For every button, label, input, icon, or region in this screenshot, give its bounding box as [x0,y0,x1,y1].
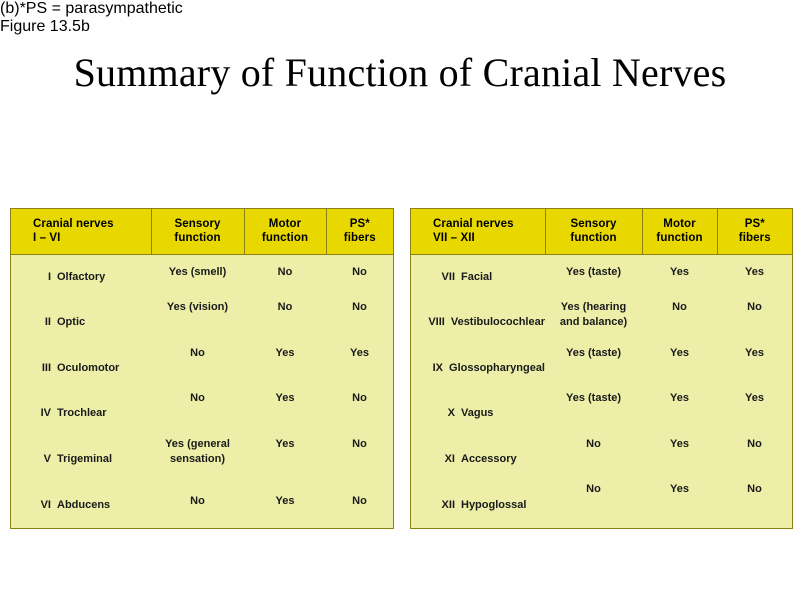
column-header-cranial-nerves: Cranial nerves VII – XII [411,209,545,254]
table-row: II Optic Yes (vision) No No [11,300,393,346]
cell-motor: Yes [642,437,717,483]
header-line-1: Motor [269,218,301,230]
nerve-numeral: VII [411,270,455,285]
header-row: Cranial nerves VII – XII Sensory functio… [411,209,792,254]
table-row: XI Accessory No Yes No [411,437,792,483]
cell-ps: No [326,482,393,528]
table-row: VIII Vestibulocochlear Yes (hearing and … [411,300,792,346]
header-line-1: PS* [350,218,370,230]
cell-motor: Yes [244,391,326,437]
column-header-ps-fibers: PS* fibers [717,209,792,254]
nerve-numeral: VIII [411,315,445,330]
header-line-2: function [570,232,616,244]
cell-sensory: No [151,482,244,528]
cell-nerve: V Trigeminal [11,437,151,483]
header-line-2: fibers [344,232,376,244]
cell-motor: No [642,300,717,346]
table-body: VII Facial Yes (taste) Yes Yes VIII Vest… [411,254,792,528]
nerve-name: Vagus [455,406,493,421]
cell-ps: Yes [717,391,792,437]
nerve-numeral: II [11,315,51,330]
nerve-numeral: XI [411,452,455,467]
nerve-numeral: V [11,452,51,467]
table-row: XII Hypoglossal No Yes No [411,482,792,528]
page-title: Summary of Function of Cranial Nerves [40,48,760,98]
figure-number: Figure 13.5b [0,18,800,36]
table: Cranial nerves I – VI Sensory function M… [11,209,393,528]
column-header-cranial-nerves: Cranial nerves I – VI [11,209,151,254]
cell-ps: No [326,254,393,300]
cranial-nerves-table-7-12: Cranial nerves VII – XII Sensory functio… [410,208,793,529]
cell-ps: Yes [717,346,792,392]
nerve-name: Oculomotor [51,361,119,376]
header-line-1: Motor [663,218,695,230]
header-line-1: Cranial nerves [433,218,514,230]
header-line-1: Sensory [174,218,220,230]
header-line-2: I – VI [33,232,60,244]
cell-sensory: Yes (hearing and balance) [545,300,642,346]
cell-ps: No [326,300,393,346]
cell-ps: No [717,300,792,346]
cell-ps: No [717,482,792,528]
nerve-numeral: X [411,406,455,421]
header-line-1: Sensory [570,218,616,230]
nerve-name: Olfactory [51,270,105,285]
cell-nerve: X Vagus [411,391,545,437]
header-line-2: fibers [739,232,771,244]
cell-ps: No [326,437,393,483]
cell-motor: No [244,254,326,300]
table-row: IX Glossopharyngeal Yes (taste) Yes Yes [411,346,792,392]
ps-footnote: *PS = parasympathetic [20,0,183,17]
cell-sensory: Yes (taste) [545,254,642,300]
header-line-2: function [174,232,220,244]
cell-sensory: No [151,391,244,437]
cell-sensory: Yes (general sensation) [151,437,244,483]
cell-nerve: VIII Vestibulocochlear [411,300,545,346]
header-line-1: Cranial nerves [33,218,114,230]
nerve-numeral: IX [411,361,443,376]
cell-motor: Yes [642,254,717,300]
cell-sensory: No [545,482,642,528]
nerve-name: Abducens [51,498,110,513]
cell-nerve: IX Glossopharyngeal [411,346,545,392]
cell-ps: Yes [717,254,792,300]
cell-sensory: Yes (vision) [151,300,244,346]
cell-nerve: I Olfactory [11,254,151,300]
table-row: VII Facial Yes (taste) Yes Yes [411,254,792,300]
header-line-2: VII – XII [433,232,475,244]
table-header: Cranial nerves VII – XII Sensory functio… [411,209,792,254]
column-header-sensory-function: Sensory function [151,209,244,254]
cell-ps: No [717,437,792,483]
header-row: Cranial nerves I – VI Sensory function M… [11,209,393,254]
header-line-2: function [656,232,702,244]
cell-sensory: Yes (taste) [545,391,642,437]
cell-ps: No [326,391,393,437]
table-header: Cranial nerves I – VI Sensory function M… [11,209,393,254]
column-header-sensory-function: Sensory function [545,209,642,254]
nerve-name: Optic [51,315,85,330]
cell-nerve: IV Trochlear [11,391,151,437]
cell-nerve: VII Facial [411,254,545,300]
figure-13-5b: Cranial nerves I – VI Sensory function M… [0,208,800,438]
cell-sensory: No [545,437,642,483]
nerve-numeral: XII [411,498,455,513]
cell-nerve: XI Accessory [411,437,545,483]
cell-motor: Yes [642,391,717,437]
cell-motor: No [244,300,326,346]
column-header-ps-fibers: PS* fibers [326,209,393,254]
cell-motor: Yes [642,482,717,528]
header-line-2: function [262,232,308,244]
cell-sensory: No [151,346,244,392]
nerve-name: Facial [455,270,492,285]
cell-motor: Yes [642,346,717,392]
table-row: VI Abducens No Yes No [11,482,393,528]
figure-caption: (b)*PS = parasympathetic [0,0,800,18]
nerve-numeral: VI [11,498,51,513]
cell-nerve: II Optic [11,300,151,346]
cell-motor: Yes [244,437,326,483]
cranial-nerves-table-1-6: Cranial nerves I – VI Sensory function M… [10,208,394,529]
table-row: IV Trochlear No Yes No [11,391,393,437]
cell-nerve: XII Hypoglossal [411,482,545,528]
nerve-numeral: I [11,270,51,285]
cell-nerve: III Oculomotor [11,346,151,392]
table-row: I Olfactory Yes (smell) No No [11,254,393,300]
nerve-numeral: IV [11,406,51,421]
table: Cranial nerves VII – XII Sensory functio… [411,209,792,528]
nerve-name: Vestibulocochlear [445,315,545,330]
cell-motor: Yes [244,482,326,528]
panel-label: (b) [0,0,20,17]
nerve-name: Glossopharyngeal [443,361,545,376]
cell-sensory: Yes (smell) [151,254,244,300]
table-body: I Olfactory Yes (smell) No No II Optic [11,254,393,528]
column-header-motor-function: Motor function [642,209,717,254]
cell-nerve: VI Abducens [11,482,151,528]
nerve-name: Hypoglossal [455,498,526,513]
cell-ps: Yes [326,346,393,392]
table-row: III Oculomotor No Yes Yes [11,346,393,392]
column-header-motor-function: Motor function [244,209,326,254]
table-row: V Trigeminal Yes (general sensation) Yes… [11,437,393,483]
nerve-name: Trochlear [51,406,107,421]
nerve-name: Trigeminal [51,452,112,467]
nerve-numeral: III [11,361,51,376]
cell-sensory: Yes (taste) [545,346,642,392]
table-row: X Vagus Yes (taste) Yes Yes [411,391,792,437]
nerve-name: Accessory [455,452,517,467]
header-line-1: PS* [745,218,765,230]
cell-motor: Yes [244,346,326,392]
